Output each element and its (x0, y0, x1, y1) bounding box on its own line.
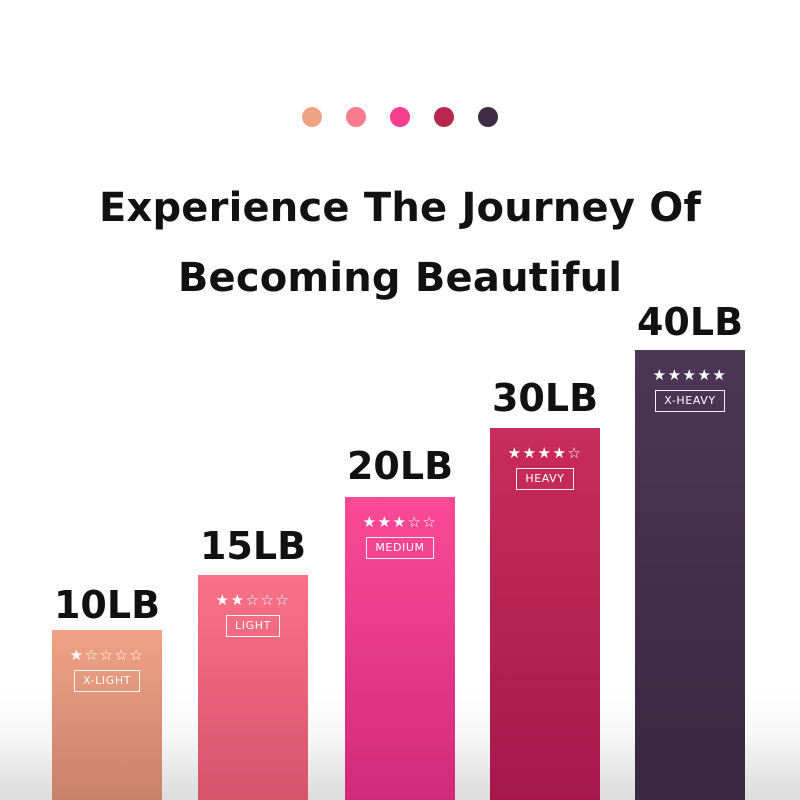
bar-heavy[interactable]: ★★★★☆HEAVY (490, 428, 600, 800)
bar-group-x-light[interactable]: 10LB★☆☆☆☆X-LIGHT (52, 630, 162, 800)
bar-weight-label-heavy: 30LB (470, 379, 620, 417)
bar-group-medium[interactable]: 20LB★★★☆☆MEDIUM (345, 497, 455, 800)
bar-weight-label-medium: 20LB (325, 447, 475, 485)
bar-content-heavy: ★★★★☆HEAVY (490, 446, 600, 490)
bar-weight-label-x-heavy: 40LB (615, 303, 765, 341)
strength-badge-x-light: X-LIGHT (74, 670, 140, 692)
bar-light[interactable]: ★★☆☆☆LIGHT (198, 575, 308, 800)
resistance-bar-chart: 10LB★☆☆☆☆X-LIGHT15LB★★☆☆☆LIGHT20LB★★★☆☆M… (0, 0, 800, 800)
star-rating-x-light: ★☆☆☆☆ (70, 648, 145, 663)
bar-group-heavy[interactable]: 30LB★★★★☆HEAVY (490, 428, 600, 800)
bar-weight-label-x-light: 10LB (32, 586, 182, 624)
strength-badge-heavy: HEAVY (516, 468, 573, 490)
bar-content-x-heavy: ★★★★★X-HEAVY (635, 368, 745, 412)
star-rating-light: ★★☆☆☆ (216, 593, 291, 608)
bar-x-heavy[interactable]: ★★★★★X-HEAVY (635, 350, 745, 800)
bar-group-x-heavy[interactable]: 40LB★★★★★X-HEAVY (635, 350, 745, 800)
strength-badge-x-heavy: X-HEAVY (655, 390, 724, 412)
bar-weight-label-light: 15LB (178, 527, 328, 565)
bar-group-light[interactable]: 15LB★★☆☆☆LIGHT (198, 575, 308, 800)
bar-x-light[interactable]: ★☆☆☆☆X-LIGHT (52, 630, 162, 800)
strength-badge-light: LIGHT (226, 615, 280, 637)
star-rating-x-heavy: ★★★★★ (653, 368, 728, 383)
bar-content-medium: ★★★☆☆MEDIUM (345, 515, 455, 559)
strength-badge-medium: MEDIUM (366, 537, 433, 559)
bar-content-x-light: ★☆☆☆☆X-LIGHT (52, 648, 162, 692)
star-rating-heavy: ★★★★☆ (508, 446, 583, 461)
star-rating-medium: ★★★☆☆ (363, 515, 438, 530)
bar-content-light: ★★☆☆☆LIGHT (198, 593, 308, 637)
bar-medium[interactable]: ★★★☆☆MEDIUM (345, 497, 455, 800)
poster-canvas: Experience The Journey Of Becoming Beaut… (0, 0, 800, 800)
